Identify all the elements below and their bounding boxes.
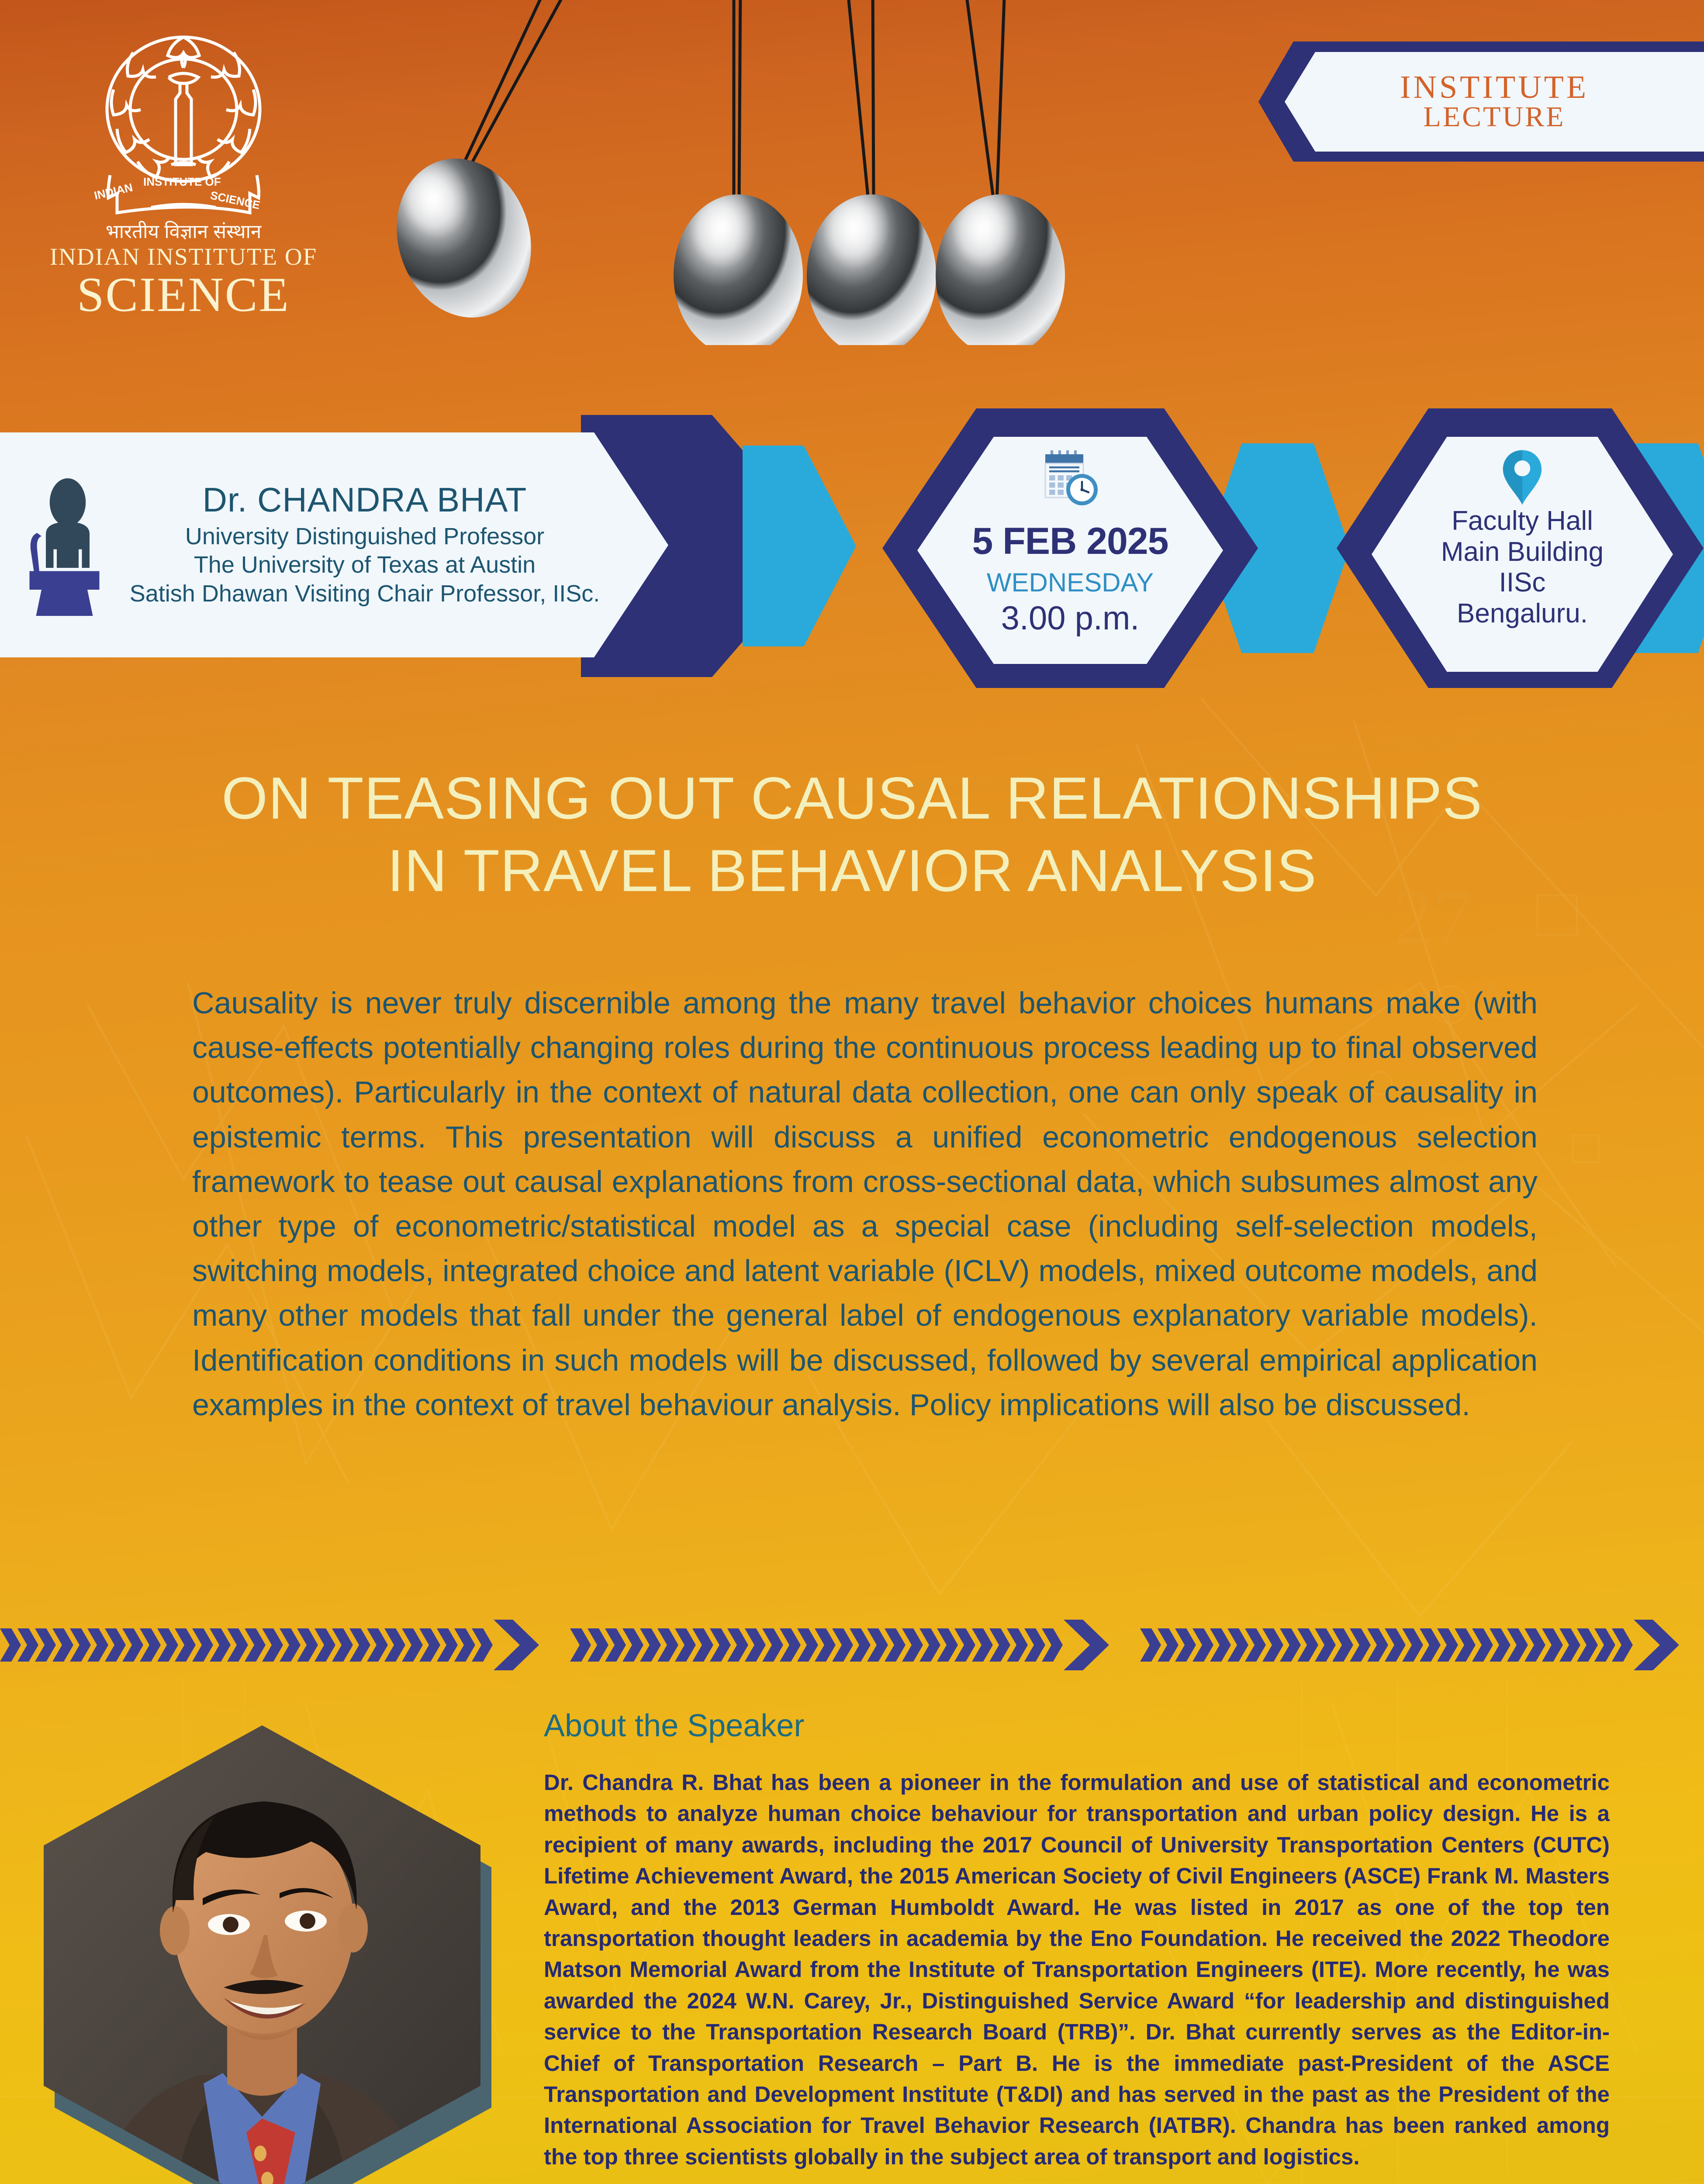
- abstract-block: Causality is never truly discernible amo…: [192, 981, 1538, 1427]
- speaker-panel-teal-accent: [743, 446, 856, 646]
- speaker-panel: Dr. CHANDRA BHAT University Distinguishe…: [0, 432, 668, 657]
- svg-text:INDIAN: INDIAN: [93, 180, 134, 202]
- avatar: [44, 1725, 480, 2184]
- banner-line-2: LECTURE: [1424, 103, 1566, 131]
- svg-text:भारतीय विज्ञान संस्थान: भारतीय विज्ञान संस्थान: [106, 221, 262, 242]
- speaker-affiliation-3: Satish Dhawan Visiting Chair Professor, …: [127, 580, 603, 608]
- lecture-poster: 27 Δ: [0, 0, 1704, 2184]
- title-line-2: IN TRAVEL BEHAVIOR ANALYSIS: [0, 835, 1704, 907]
- event-time: 3.00 p.m.: [1001, 599, 1140, 637]
- about-speaker-text: Dr. Chandra R. Bhat has been a pioneer i…: [544, 1767, 1610, 2172]
- calendar-clock-icon: [1037, 446, 1103, 512]
- abstract-text: Causality is never truly discernible amo…: [192, 981, 1538, 1427]
- event-date: 5 FEB 2025: [972, 520, 1168, 563]
- iisc-crest-icon: INDIAN INSTITUTE OF SCIENCE भारतीय विज्ञ…: [61, 11, 306, 256]
- venue-line-2: Main Building: [1441, 537, 1604, 568]
- map-pin-icon: [1498, 449, 1546, 506]
- brand-wordmark: INDIAN INSTITUTE OF SCIENCE: [35, 245, 332, 319]
- speaker-name: Dr. CHANDRA BHAT: [127, 481, 603, 519]
- banner-white-panel: INSTITUTE LECTURE: [1285, 52, 1704, 152]
- institute-lecture-banner: INSTITUTE LECTURE: [1258, 41, 1704, 162]
- banner-line-1: INSTITUTE: [1400, 72, 1589, 103]
- speaker-at-podium-icon: [17, 474, 127, 616]
- venue-line-3: IISc: [1499, 567, 1546, 598]
- title-line-1: ON TEASING OUT CAUSAL RELATIONSHIPS: [0, 762, 1704, 835]
- brand-line-1: INDIAN INSTITUTE OF: [35, 245, 332, 269]
- event-info-row: Dr. CHANDRA BHAT University Distinguishe…: [0, 408, 1704, 688]
- page-title: ON TEASING OUT CAUSAL RELATIONSHIPS IN T…: [0, 762, 1704, 907]
- venue-line-4: Bengaluru.: [1457, 598, 1588, 629]
- svg-text:INSTITUTE OF: INSTITUTE OF: [143, 175, 221, 188]
- newtons-cradle-icon: [384, 0, 1136, 345]
- speaker-details: Dr. CHANDRA BHAT University Distinguishe…: [127, 481, 668, 608]
- speaker-affiliation-1: University Distinguished Professor: [127, 522, 603, 551]
- event-weekday: WEDNESDAY: [987, 567, 1154, 598]
- about-speaker-heading: About the Speaker: [544, 1708, 804, 1744]
- speaker-affiliation-2: The University of Texas at Austin: [127, 551, 603, 580]
- chevron-arrow-band-icon: [0, 1616, 1704, 1686]
- about-speaker-body: Dr. Chandra R. Bhat has been a pioneer i…: [544, 1767, 1610, 2172]
- venue-line-1: Faculty Hall: [1452, 506, 1593, 537]
- brand-line-2: SCIENCE: [35, 270, 332, 319]
